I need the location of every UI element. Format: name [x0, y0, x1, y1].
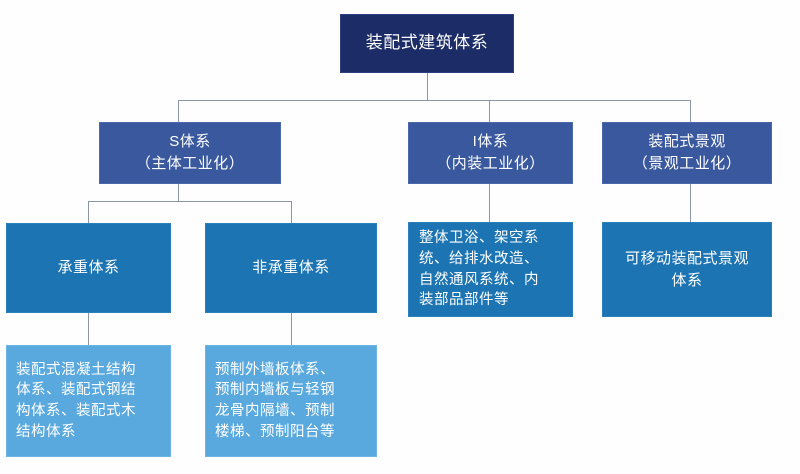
connector-drop-s-system: [178, 100, 179, 122]
node-load-bearing-detail[interactable]: 装配式混凝土结构 体系、装配式钢结 构体系、装配式木 结构体系: [6, 345, 171, 457]
node-landscape-detail-label: 可移动装配式景观 体系: [617, 248, 757, 292]
connector-level2-bus: [178, 100, 691, 101]
node-non-load-bearing-detail[interactable]: 预制外墙板体系、 预制内墙板与轻钢 龙骨内隔墙、预制 楼梯、预制阳台等: [205, 345, 377, 457]
node-load-bearing-label: 承重体系: [49, 257, 127, 279]
node-i-system[interactable]: I体系 （内装工业化）: [408, 122, 573, 184]
node-non-load-bearing-detail-label: 预制外墙板体系、 预制内墙板与轻钢 龙骨内隔墙、预制 楼梯、预制阳台等: [206, 360, 344, 442]
connector-landscape-to-detail: [690, 184, 691, 222]
node-i-system-detail-label: 整体卫浴、架空系 统、给排水改造、 自然通风系统、内 装部品部件等: [409, 228, 549, 310]
connector-drop-load-bearing: [88, 201, 89, 223]
node-s-system-label: S体系 （主体工业化）: [128, 131, 253, 175]
connector-drop-non-load-bearing: [291, 201, 292, 223]
node-load-bearing-detail-label: 装配式混凝土结构 体系、装配式钢结 构体系、装配式木 结构体系: [7, 360, 145, 442]
node-landscape[interactable]: 装配式景观 （景观工业化）: [602, 122, 772, 184]
node-landscape-label: 装配式景观 （景观工业化）: [625, 131, 750, 175]
node-non-load-bearing[interactable]: 非承重体系: [205, 223, 377, 313]
connector-non-load-bearing-to-detail: [291, 313, 292, 345]
node-landscape-detail[interactable]: 可移动装配式景观 体系: [602, 222, 772, 317]
node-i-system-detail[interactable]: 整体卫浴、架空系 统、给排水改造、 自然通风系统、内 装部品部件等: [408, 222, 573, 317]
node-non-load-bearing-label: 非承重体系: [244, 257, 338, 279]
connector-drop-i-system: [489, 100, 490, 122]
connector-i-system-to-detail: [489, 184, 490, 222]
connector-drop-landscape: [690, 100, 691, 122]
node-root-label: 装配式建筑体系: [358, 31, 497, 56]
node-i-system-label: I体系 （内装工业化）: [428, 131, 553, 175]
connector-s-system-bus: [88, 201, 291, 202]
node-load-bearing[interactable]: 承重体系: [6, 223, 171, 313]
connector-load-bearing-to-detail: [88, 313, 89, 345]
node-root[interactable]: 装配式建筑体系: [340, 14, 514, 73]
connector-s-system-stem: [178, 184, 179, 202]
diagram-canvas: 装配式建筑体系 S体系 （主体工业化） I体系 （内装工业化） 装配式景观 （景…: [0, 0, 800, 474]
node-s-system[interactable]: S体系 （主体工业化）: [99, 122, 281, 184]
connector-root-stem: [427, 73, 428, 101]
